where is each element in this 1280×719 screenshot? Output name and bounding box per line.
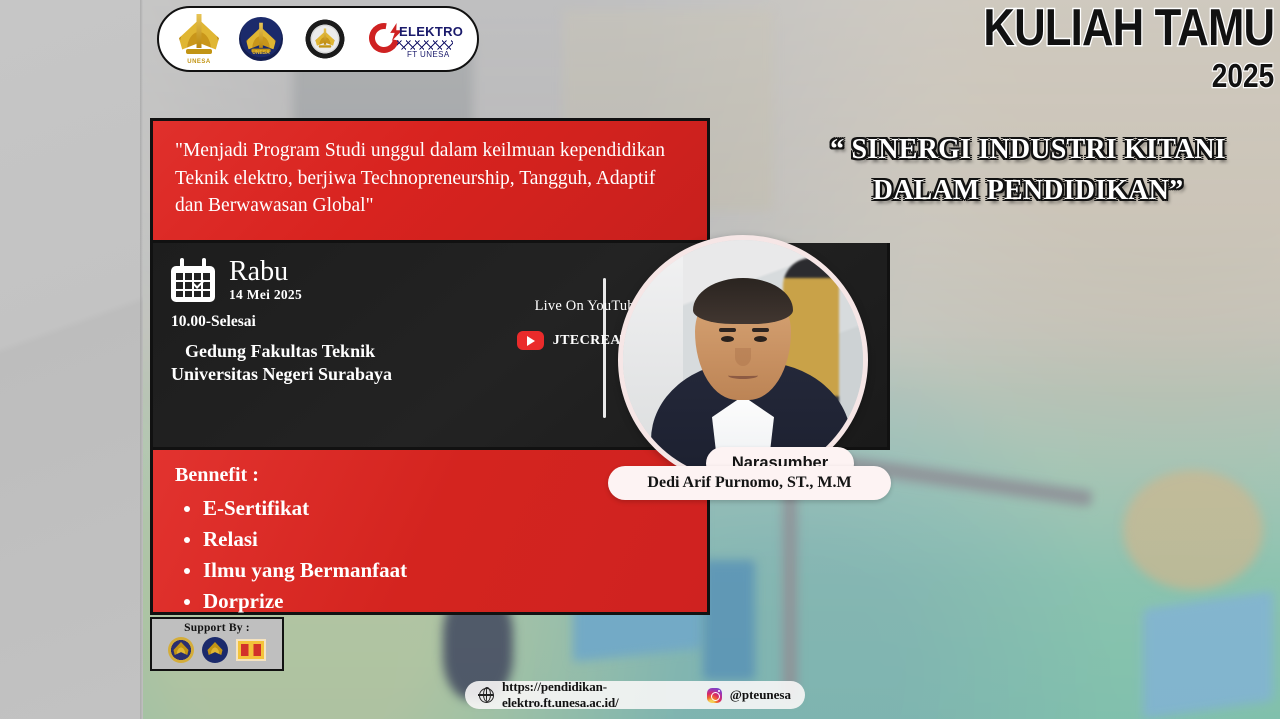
institution-logo-bar: UNESA UNESA ELEKTRO FT UN [157,6,479,72]
support-box: Support By : [150,617,284,671]
event-day: Rabu [229,257,302,286]
unesa-navy-logo-caption: UNESA [252,50,270,56]
speaker-name-badge: Dedi Arif Purnomo, ST., M.M [608,466,891,500]
calendar-icon [171,258,215,302]
poster-stage: UNESA UNESA ELEKTRO FT UN [0,0,1280,719]
globe-icon [479,688,494,703]
footer-contact-bar: https://pendidikan-elektro.ft.unesa.ac.i… [465,681,805,709]
headline-block: KULIAH TAMU 2025 [928,4,1274,92]
event-time: 10.00-Selesai [171,313,451,331]
website-url[interactable]: https://pendidikan-elektro.ft.unesa.ac.i… [502,679,699,711]
elektro-logo-subcaption: FT UNESA [407,50,450,59]
poster-year: 2025 [980,59,1274,92]
instagram-handle[interactable]: @pteunesa [730,687,791,703]
vision-box: "Menjadi Program Studi unggul dalam keil… [150,118,710,243]
poster-title: KULIAH TAMU [983,4,1274,53]
poster-canvas: UNESA UNESA ELEKTRO FT UN [143,0,1280,719]
support-logo-row [152,637,282,663]
fakultas-teknik-seal-icon [303,17,347,61]
instagram-icon [707,688,722,703]
event-details: Rabu 14 Mei 2025 10.00-Selesai Gedung Fa… [171,257,451,385]
elektro-logo-caption: ELEKTRO [399,24,463,39]
unesa-navy-circle-icon: UNESA [239,17,283,61]
event-venue-line2: Universitas Negeri Surabaya [171,364,451,385]
list-item: Ilmu yang Bermanfaat [203,555,707,586]
waveform-icon [397,40,453,50]
event-date: 14 Mei 2025 [229,287,302,303]
elektro-swirl-icon: ELEKTRO FT UNESA [367,17,457,61]
benefit-list: E-Sertifikat Relasi Ilmu yang Bermanfaat… [203,493,707,617]
unesa-outline-logo-icon [168,637,194,663]
support-title: Support By : [152,622,282,634]
unesa-logo-caption: UNESA [187,59,211,65]
unesa-logo: UNESA [179,14,219,65]
unesa-navy-logo: UNESA [239,17,283,61]
unesa-navy-logo-icon [202,637,228,663]
kitani-logo-icon [236,639,266,661]
event-date-row: Rabu 14 Mei 2025 [171,257,451,303]
list-item: Dorprize [203,586,707,617]
youtube-icon [517,331,544,350]
fakultas-teknik-logo [303,17,347,61]
poster-theme: “ SINERGI INDUSTRI KITANI DALAM PENDIDIK… [783,130,1273,211]
list-item: Relasi [203,524,707,555]
elektro-ft-unesa-logo: ELEKTRO FT UNESA [367,17,457,61]
unesa-flame-icon [179,14,219,58]
event-venue-line1: Gedung Fakultas Teknik [171,341,451,362]
vision-text: "Menjadi Program Studi unggul dalam keil… [175,137,685,220]
viewer-gutter [0,0,143,719]
